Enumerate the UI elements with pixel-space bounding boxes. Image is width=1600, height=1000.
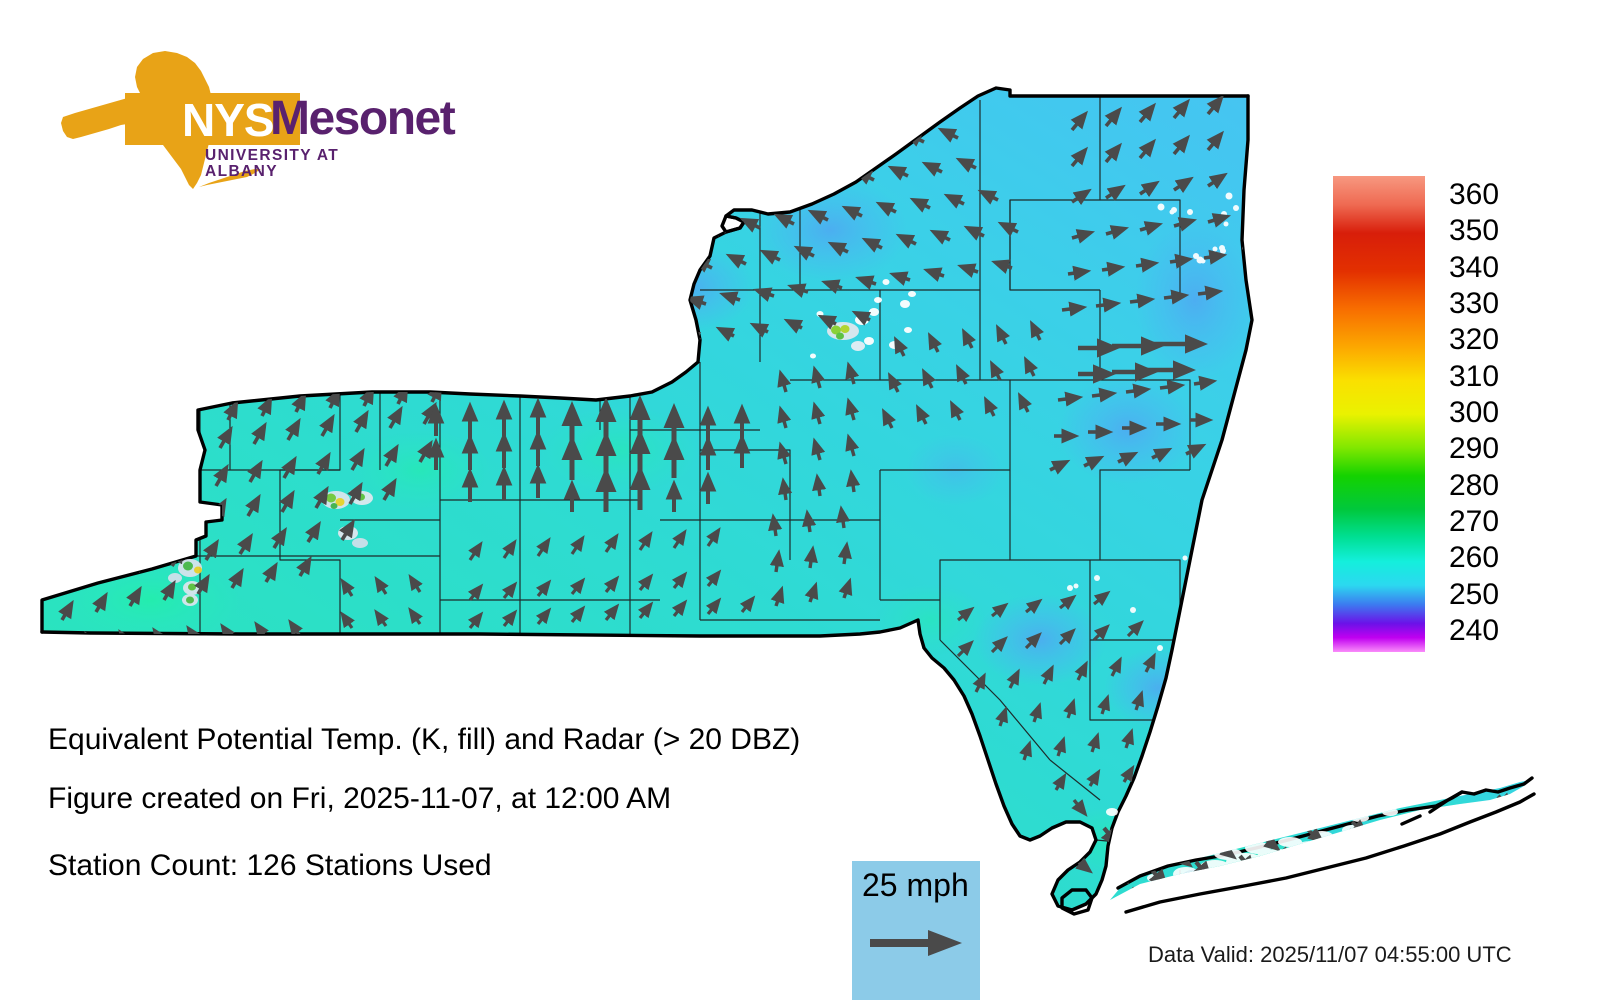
colorbar-tick-340: 340	[1449, 253, 1499, 283]
colorbar-tick-350: 350	[1449, 216, 1499, 246]
logo-mesonet-text: Mesonet	[270, 95, 454, 143]
colorbar-tick-labels: 360350340330320310300290280270260250240	[1449, 176, 1589, 652]
wind-speed-legend: 25 mph	[852, 861, 980, 1000]
colorbar	[1333, 176, 1425, 652]
data-valid-timestamp: Data Valid: 2025/11/07 04:55:00 UTC	[1148, 944, 1512, 966]
logo-university-text: UNIVERSITY AT ALBANY	[205, 148, 400, 179]
wind-speed-legend-label: 25 mph	[862, 869, 969, 901]
colorbar-tick-300: 300	[1449, 398, 1499, 428]
colorbar-tick-260: 260	[1449, 543, 1499, 573]
colorbar-tick-240: 240	[1449, 616, 1499, 646]
colorbar-tick-360: 360	[1449, 180, 1499, 210]
colorbar-tick-250: 250	[1449, 580, 1499, 610]
colorbar-tick-330: 330	[1449, 289, 1499, 319]
colorbar-tick-310: 310	[1449, 362, 1499, 392]
wind-arrow-icon	[870, 925, 966, 961]
logo-nys-text: NYS	[182, 97, 274, 143]
colorbar-tick-290: 290	[1449, 434, 1499, 464]
station-count-text: Station Count: 126 Stations Used	[48, 851, 492, 881]
colorbar-gradient	[1333, 176, 1425, 652]
nys-mesonet-logo: NYS Mesonet UNIVERSITY AT ALBANY	[55, 45, 400, 205]
figure-title: Equivalent Potential Temp. (K, fill) and…	[48, 725, 800, 755]
colorbar-tick-280: 280	[1449, 471, 1499, 501]
weather-map-figure: NYS Mesonet UNIVERSITY AT ALBANY 3603503…	[0, 0, 1600, 1000]
colorbar-tick-270: 270	[1449, 507, 1499, 537]
figure-created-text: Figure created on Fri, 2025-11-07, at 12…	[48, 784, 671, 814]
colorbar-tick-320: 320	[1449, 325, 1499, 355]
